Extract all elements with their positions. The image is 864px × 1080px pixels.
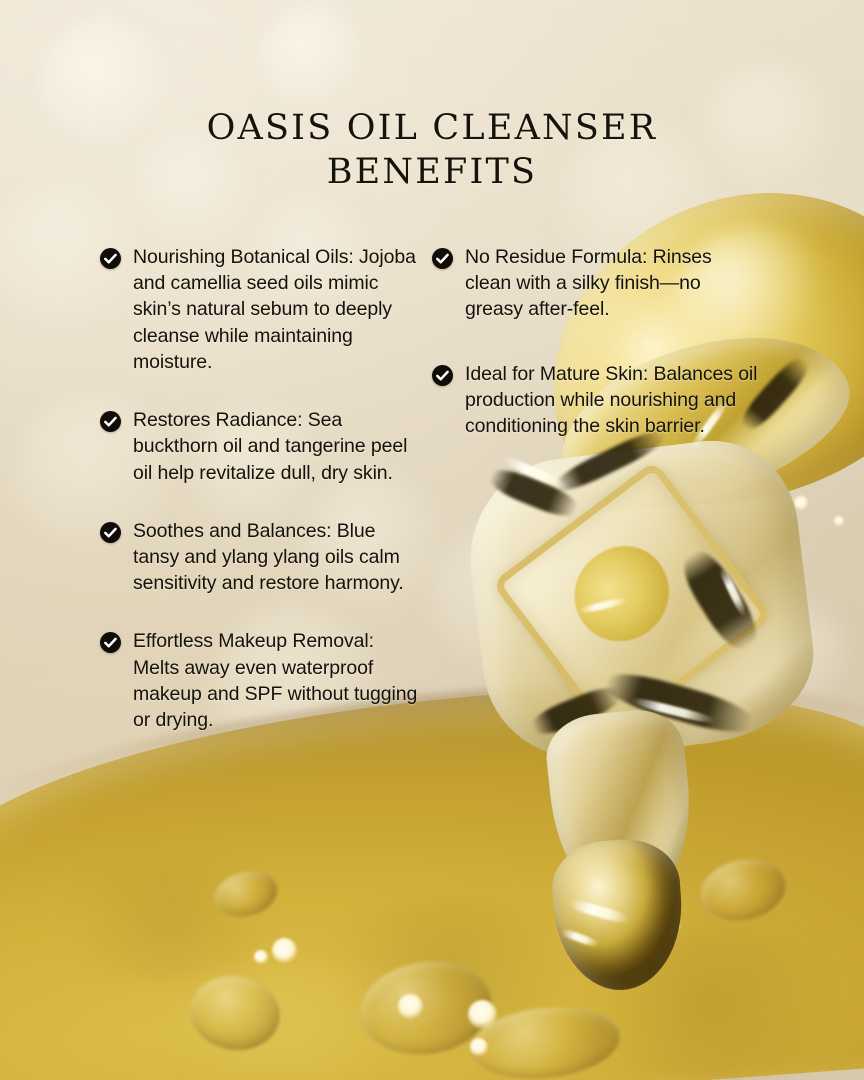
page-title: OASIS OIL CLEANSER BENEFITS [0,106,864,194]
check-circle-icon [100,522,121,543]
benefit-item: Effortless Makeup Removal: Melts away ev… [100,628,430,733]
benefit-text: Soothes and Balances: Blue tansy and yla… [133,518,425,597]
page-title-line-2: BENEFITS [0,150,864,194]
benefit-text: No Residue Formula: Rinses clean with a … [465,244,761,323]
check-circle-icon [100,411,121,432]
check-circle-icon [432,248,453,269]
benefits-columns: Nourishing Botanical Oils: Jojoba and ca… [100,244,780,765]
benefit-item: Restores Radiance: Sea buckthorn oil and… [100,407,430,486]
benefit-item: Ideal for Mature Skin: Balances oil prod… [432,361,762,440]
benefits-poster: OASIS OIL CLEANSER BENEFITS Nourishing B… [0,0,864,1080]
benefit-text: Restores Radiance: Sea buckthorn oil and… [133,407,425,486]
page-title-line-1: OASIS OIL CLEANSER [207,108,658,148]
benefits-right-column: No Residue Formula: Rinses clean with a … [432,244,762,765]
benefit-text: Ideal for Mature Skin: Balances oil prod… [465,361,761,440]
check-circle-icon [432,365,453,386]
poster-content: OASIS OIL CLEANSER BENEFITS Nourishing B… [0,0,864,1080]
check-circle-icon [100,248,121,269]
benefit-text: Nourishing Botanical Oils: Jojoba and ca… [133,244,425,375]
benefit-text: Effortless Makeup Removal: Melts away ev… [133,628,425,733]
benefits-left-column: Nourishing Botanical Oils: Jojoba and ca… [100,244,430,765]
benefit-item: Soothes and Balances: Blue tansy and yla… [100,518,430,597]
check-circle-icon [100,632,121,653]
benefit-item: Nourishing Botanical Oils: Jojoba and ca… [100,244,430,375]
benefit-item: No Residue Formula: Rinses clean with a … [432,244,762,323]
